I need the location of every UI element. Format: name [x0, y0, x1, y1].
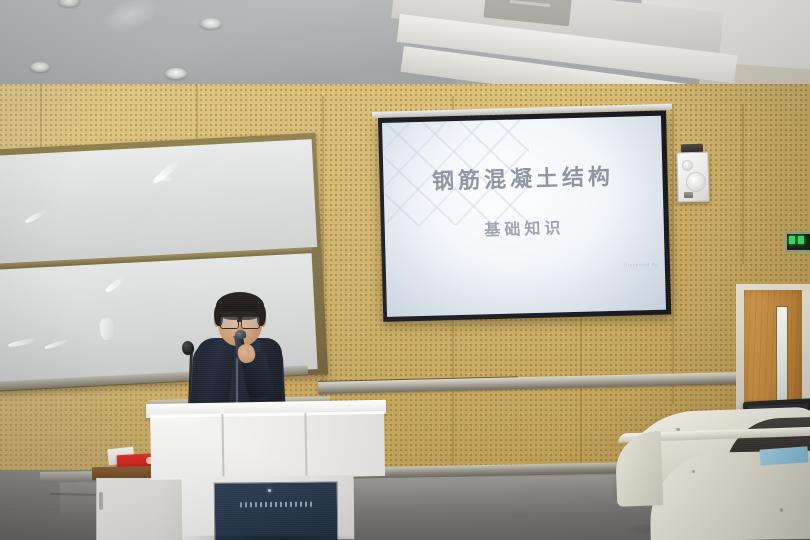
- lecture-hall-photograph: 钢筋混凝土结构 基础知识 Presented by: [0, 0, 810, 540]
- whiteboard-glare: [99, 317, 115, 340]
- side-table-handle: [99, 492, 103, 510]
- screen-vignette: [382, 116, 666, 317]
- blue-document: [760, 446, 809, 465]
- exit-sign-glow: [789, 236, 795, 244]
- door-wood-grain: [744, 290, 802, 410]
- lectern-front-face: [150, 410, 385, 480]
- projection-screen: 钢筋混凝土结构 基础知识 Presented by: [382, 116, 666, 317]
- console-fastener: [676, 428, 680, 431]
- lectern-dark-panel: [214, 481, 339, 540]
- downlight-icon: [165, 68, 187, 79]
- exit-sign-glow: [798, 236, 804, 244]
- lectern-indicator-led: [268, 489, 271, 492]
- console-fastener: [692, 470, 695, 473]
- speaker-tweeter: [682, 160, 693, 171]
- door-vision-panel: [776, 306, 788, 404]
- speaker-woofer: [686, 172, 706, 192]
- downlight-icon: [200, 18, 222, 29]
- lectern-floor-shadow: [176, 534, 366, 540]
- lectern-panel-logo: [240, 502, 312, 508]
- console-fastener: [780, 508, 783, 512]
- speaker-badge: [684, 192, 693, 198]
- whiteboard-upper-panel: [0, 139, 317, 264]
- presenter-glasses-right-lens: [241, 316, 260, 329]
- presenter-glasses-bridge: [237, 320, 242, 322]
- downlight-icon: [30, 62, 50, 72]
